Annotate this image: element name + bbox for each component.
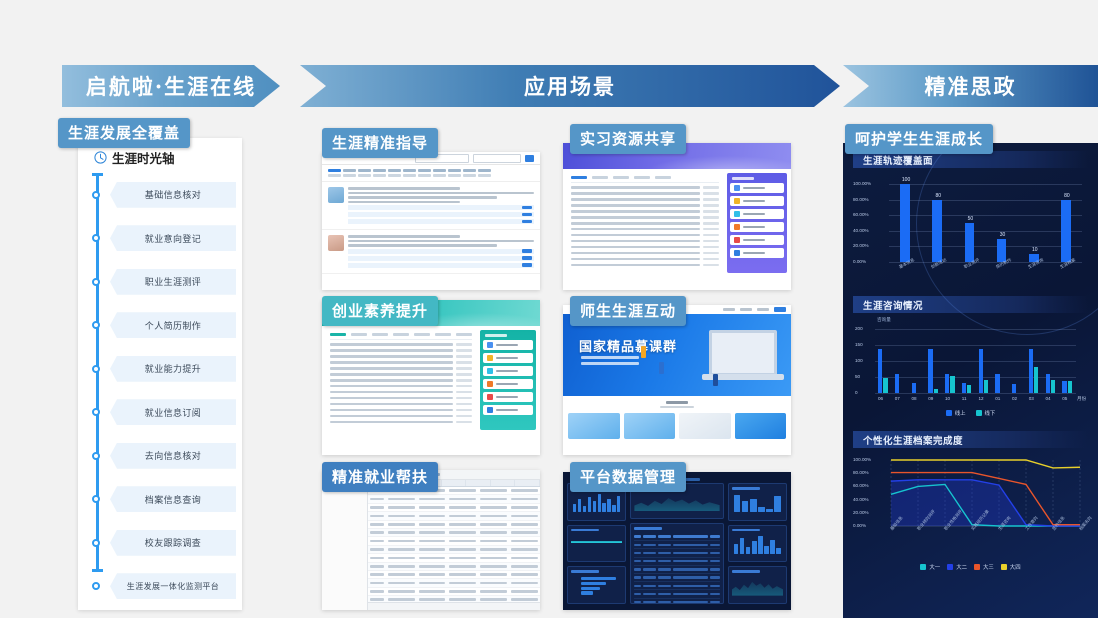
y-tick-label: 200 xyxy=(855,326,863,331)
bar xyxy=(1051,380,1055,393)
timeline-dot xyxy=(92,539,100,547)
timeline-item-label: 生涯发展一体化监测平台 xyxy=(110,573,236,599)
bar xyxy=(967,385,971,393)
bar xyxy=(932,200,942,262)
y-tick-label: 40.00% xyxy=(853,228,869,233)
table-row xyxy=(368,521,540,529)
y-axis-label: 咨询量 xyxy=(877,317,891,323)
gridline xyxy=(875,393,1076,394)
banner-right-label: 精准思政 xyxy=(925,71,1017,101)
timeline-dot xyxy=(92,365,100,373)
legend-item: 线下 xyxy=(976,409,996,417)
section-heading xyxy=(666,401,688,404)
table-row xyxy=(634,558,719,566)
badge-career-coverage: 生涯发展全覆盖 xyxy=(58,118,190,148)
line-series xyxy=(891,460,1080,468)
bar xyxy=(1061,200,1071,262)
course-banner-title: 国家精品慕课群 xyxy=(579,336,677,355)
bar xyxy=(984,380,988,393)
bar xyxy=(928,349,932,393)
dashboard-widget-hbars xyxy=(567,566,626,604)
panel-teacher-student[interactable]: 国家精品慕课群 xyxy=(563,305,791,455)
career-guidance-screenshot xyxy=(322,152,540,290)
table-row xyxy=(368,537,540,545)
timeline-dot xyxy=(92,278,100,286)
sheet-rows xyxy=(368,487,540,602)
table-row xyxy=(634,566,719,574)
gridline xyxy=(889,231,1082,232)
timeline-item[interactable]: 去向信息核对 xyxy=(94,434,242,478)
timeline-item-label: 去向信息核对 xyxy=(110,443,236,469)
y-tick-label: 100 xyxy=(855,358,863,363)
career-timeline-list: 基础信息核对 就业意向登记 职业生涯测评 个人简历制作 就业能力提升 就业信息订… xyxy=(78,173,242,608)
timeline-item[interactable]: 个人简历制作 xyxy=(94,304,242,348)
timeline-item[interactable]: 职业生涯测评 xyxy=(94,260,242,304)
bar-value-label: 80 xyxy=(931,193,945,199)
timeline-dot xyxy=(92,191,100,199)
table-row xyxy=(368,495,540,503)
badge-platform-data: 平台数据管理 xyxy=(570,462,686,492)
badge-employment-aid: 精准就业帮扶 xyxy=(322,462,438,492)
bar xyxy=(1012,384,1016,393)
timeline-item[interactable]: 就业意向登记 xyxy=(94,217,242,261)
y-tick-label: 0 xyxy=(855,390,858,395)
timeline-item[interactable]: 档案信息查询 xyxy=(94,478,242,522)
timeline-item-label: 就业信息订阅 xyxy=(110,399,236,425)
chart-coverage: 0.00%20.00%40.00%60.00%80.00%100.00%100基… xyxy=(851,170,1090,288)
table-row xyxy=(368,579,540,587)
x-tick-label: 03 xyxy=(1029,396,1034,401)
gridline xyxy=(875,361,1076,362)
banner-middle-label: 应用场景 xyxy=(524,71,616,101)
y-tick-label: 20.00% xyxy=(853,243,869,248)
news-list xyxy=(326,330,476,430)
gridline xyxy=(889,184,1082,185)
bar xyxy=(1068,381,1072,393)
table-row xyxy=(368,588,540,596)
bar xyxy=(1062,381,1066,393)
bar xyxy=(945,374,949,393)
timeline-dot xyxy=(92,234,100,242)
timeline-item-label: 个人简历制作 xyxy=(110,312,236,338)
timeline-dot xyxy=(92,321,100,329)
x-tick-label: 06 xyxy=(878,396,883,401)
x-tick-label: 05 xyxy=(1062,396,1067,401)
gridline xyxy=(875,345,1076,346)
panel-internship-sharing[interactable] xyxy=(563,143,791,290)
table-row xyxy=(368,554,540,562)
timeline-item[interactable]: 就业信息订阅 xyxy=(94,391,242,435)
clock-icon xyxy=(94,151,107,164)
avatar xyxy=(328,235,344,251)
person-figure xyxy=(659,362,664,374)
career-timeline-card: 生涯时光轴 基础信息核对 就业意向登记 职业生涯测评 个人简历制作 就业能力提升… xyxy=(78,138,242,610)
y-tick-label: 0.00% xyxy=(853,259,866,264)
quick-links-panel xyxy=(480,330,536,430)
course-card xyxy=(679,413,731,439)
x-tick-label: 11 xyxy=(962,396,967,401)
mock-counselor-row xyxy=(322,182,540,230)
table-row xyxy=(634,574,719,582)
banner-right: 精准思政 xyxy=(843,65,1098,107)
y-tick-label: 50 xyxy=(855,374,860,379)
course-screenshot: 国家精品慕课群 xyxy=(563,305,791,455)
avatar xyxy=(328,187,344,203)
news-list xyxy=(567,173,723,273)
internship-screenshot xyxy=(563,143,791,290)
gridline xyxy=(889,200,1082,201)
quick-links-panel xyxy=(727,173,787,273)
legend-item: 大二 xyxy=(947,563,967,571)
legend-item: 大三 xyxy=(974,563,994,571)
banner-left-label: 启航啦·生涯在线 xyxy=(86,71,256,101)
x-tick-label: 08 xyxy=(912,396,917,401)
timeline-dot xyxy=(92,495,100,503)
x-tick-label: 07 xyxy=(895,396,900,401)
x-tick-label: 10 xyxy=(945,396,950,401)
sheet-status-bar xyxy=(368,602,540,610)
table-row xyxy=(368,546,540,554)
table-row xyxy=(634,599,719,604)
x-tick-label: 01 xyxy=(995,396,1000,401)
course-hero-banner: 国家精品慕课群 xyxy=(563,314,791,396)
bar xyxy=(912,383,916,393)
bar xyxy=(995,374,999,393)
table-row xyxy=(368,563,540,571)
badge-internship-sharing: 实习资源共享 xyxy=(570,124,686,154)
timeline-item-label: 职业生涯测评 xyxy=(110,269,236,295)
dashboard-widget-area xyxy=(728,566,787,604)
table-row xyxy=(368,504,540,512)
chart-archive-completion: 0.00%20.00%40.00%60.00%80.00%100.00%基础信息… xyxy=(851,450,1090,572)
bar xyxy=(965,223,975,262)
course-list-section xyxy=(563,396,791,455)
y-tick-label: 60.00% xyxy=(853,212,869,217)
course-banner-subtitle xyxy=(581,356,639,368)
bar-value-label: 10 xyxy=(1028,247,1042,253)
dashboard-widget-bar xyxy=(728,483,787,521)
table-row xyxy=(368,529,540,537)
table-row xyxy=(634,582,719,590)
dashboard-widget-table xyxy=(630,523,723,604)
bar-value-label: 100 xyxy=(899,177,913,183)
timeline-item-label: 档案信息查询 xyxy=(110,486,236,512)
timeline-item[interactable]: 就业能力提升 xyxy=(94,347,242,391)
gridline xyxy=(889,215,1082,216)
chart-legend: 线上线下 xyxy=(851,409,1090,417)
x-tick-label: 09 xyxy=(928,396,933,401)
course-card-row xyxy=(568,413,786,439)
timeline-dot xyxy=(92,408,100,416)
line-chart-svg xyxy=(851,450,1090,528)
badge-student-growth: 呵护学生生涯成长 xyxy=(845,124,993,154)
section-subheading xyxy=(660,406,694,408)
bar xyxy=(950,376,954,393)
badge-entrepreneurship: 创业素养提升 xyxy=(322,296,438,326)
mock-date-strip xyxy=(322,165,540,182)
mock-search-input xyxy=(473,154,521,163)
bar xyxy=(883,378,887,393)
timeline-item-label: 就业能力提升 xyxy=(110,356,236,382)
x-tick-label: 02 xyxy=(1012,396,1017,401)
bar xyxy=(878,349,882,393)
table-row xyxy=(634,590,719,598)
timeline-item-label: 基础信息核对 xyxy=(110,182,236,208)
dashboard-widget-bar xyxy=(728,525,787,563)
x-axis-label: 月份 xyxy=(1077,396,1086,402)
panel-platform-data[interactable] xyxy=(563,472,791,610)
timeline-item[interactable]: 基础信息核对 xyxy=(94,173,242,217)
analytics-column: 生涯轨迹覆盖面 0.00%20.00%40.00%60.00%80.00%100… xyxy=(843,143,1098,618)
bar xyxy=(934,389,938,393)
career-timeline-title: 生涯时光轴 xyxy=(112,148,175,167)
chart-title-archive: 个性化生涯档案完成度 xyxy=(853,431,1088,448)
timeline-item[interactable]: 生涯发展一体化监测平台 xyxy=(94,565,242,609)
banner-left: 启航啦·生涯在线 xyxy=(62,65,280,107)
bar xyxy=(1046,374,1050,393)
bar xyxy=(962,383,966,393)
dashboard-widget-line xyxy=(567,525,626,563)
gridline xyxy=(889,262,1082,263)
mock-search-button xyxy=(525,155,534,162)
news-tabs xyxy=(330,333,472,340)
course-card xyxy=(735,413,787,439)
timeline-item-label: 校友跟踪调查 xyxy=(110,530,236,556)
person-figure xyxy=(641,346,646,358)
bar-value-label: 80 xyxy=(1060,193,1074,199)
person-figure xyxy=(713,374,718,386)
mock-counselor-row xyxy=(322,230,540,274)
legend-item: 大四 xyxy=(1001,563,1021,571)
chart-legend: 大一大二大三大四 xyxy=(851,563,1090,571)
y-tick-label: 80.00% xyxy=(853,197,869,202)
timeline-item[interactable]: 校友跟踪调查 xyxy=(94,521,242,565)
gridline xyxy=(889,246,1082,247)
laptop-illustration xyxy=(709,330,777,376)
gridline xyxy=(875,329,1076,330)
table-row xyxy=(634,533,719,541)
panel-career-guidance[interactable] xyxy=(322,152,540,290)
table-row xyxy=(634,541,719,549)
x-tick-label: 12 xyxy=(979,396,984,401)
chart-consultation: 咨询量050100150200060708091011120102030405月… xyxy=(851,315,1090,423)
bar xyxy=(979,349,983,393)
badge-career-guidance: 生涯精准指导 xyxy=(322,128,438,158)
timeline-dot xyxy=(92,582,100,590)
bar xyxy=(1029,349,1033,393)
chart-title-consultation: 生涯咨询情况 xyxy=(853,296,1088,313)
table-row xyxy=(634,549,719,557)
bar-value-label: 30 xyxy=(996,232,1010,238)
bar xyxy=(900,184,910,262)
legend-item: 线上 xyxy=(946,409,966,417)
x-tick-label: 04 xyxy=(1046,396,1051,401)
table-row xyxy=(368,512,540,520)
course-card xyxy=(624,413,676,439)
legend-item: 大一 xyxy=(920,563,940,571)
table-row xyxy=(368,571,540,579)
bar-value-label: 50 xyxy=(964,216,978,222)
timeline-dot xyxy=(92,452,100,460)
y-tick-label: 100.00% xyxy=(853,181,871,186)
timeline-item-label: 就业意向登记 xyxy=(110,225,236,251)
bar xyxy=(895,374,899,393)
y-tick-label: 150 xyxy=(855,342,863,347)
course-card xyxy=(568,413,620,439)
banner-middle: 应用场景 xyxy=(300,65,840,107)
bar xyxy=(1034,367,1038,393)
news-tabs xyxy=(571,176,719,183)
badge-teacher-student: 师生生涯互动 xyxy=(570,296,686,326)
dashboard-screenshot xyxy=(563,472,791,610)
